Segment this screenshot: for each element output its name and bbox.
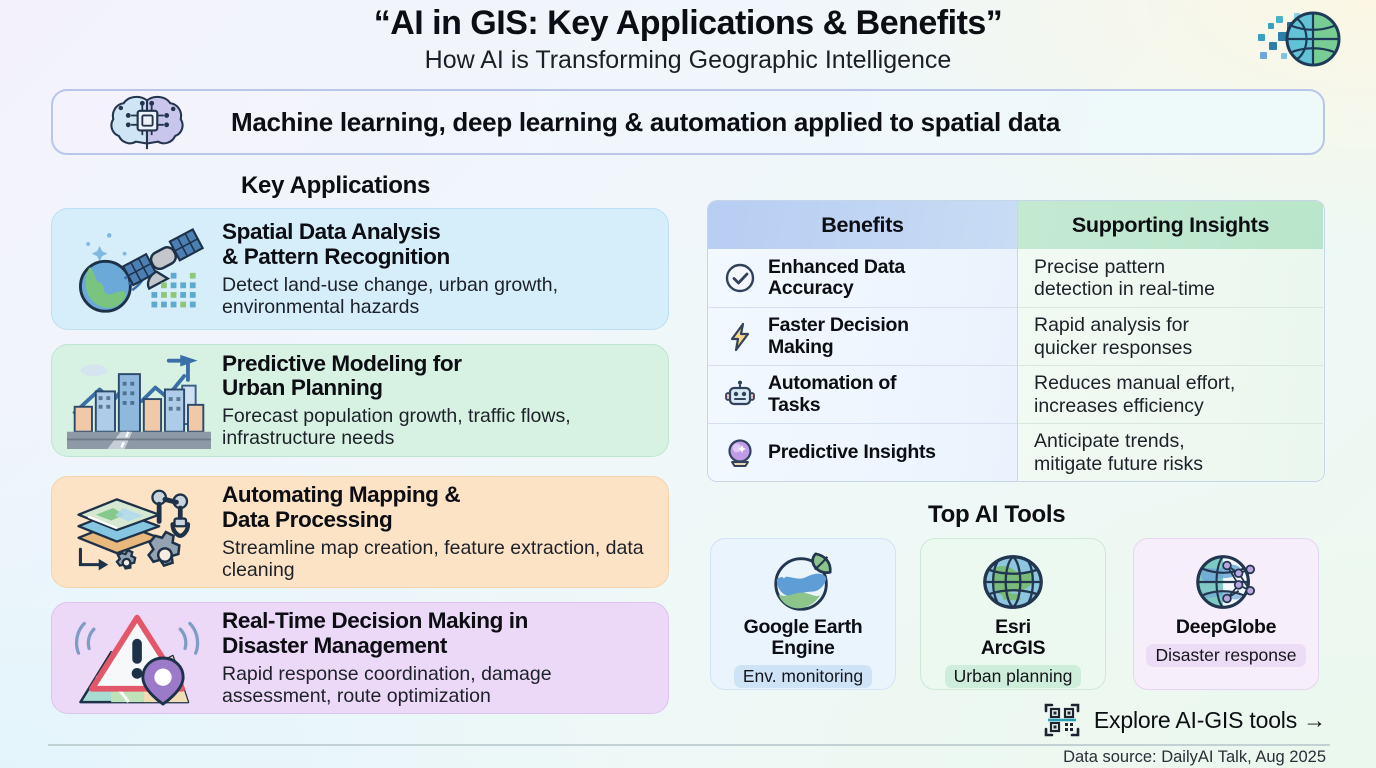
neural-globe-icon bbox=[1192, 547, 1260, 617]
tool-name-line1: DeepGlobe bbox=[1176, 616, 1276, 638]
warning-triangle-map-pin-icon bbox=[64, 608, 214, 708]
benefit-line2: Tasks bbox=[768, 394, 820, 416]
table-row[interactable]: Automation ofTasks Reduces manual effort… bbox=[708, 365, 1324, 423]
explore-cta-label: Explore AI-GIS tools → bbox=[1094, 707, 1326, 734]
card-title-line1: Predictive Modeling for bbox=[222, 351, 462, 376]
tool-card-deepglobe[interactable]: DeepGlobe Disaster response bbox=[1133, 538, 1319, 690]
benefit-line1: Enhanced Data bbox=[768, 256, 905, 278]
brain-circuit-icon bbox=[101, 93, 193, 151]
benefits-table: Benefits Supporting Insights Enhanced Da… bbox=[707, 200, 1325, 482]
application-card-spatial-data-analysis[interactable]: Spatial Data Analysis & Pattern Recognit… bbox=[51, 208, 669, 330]
card-text: Predictive Modeling for Urban Planning F… bbox=[222, 352, 654, 450]
benefit-line1: Automation of bbox=[768, 372, 896, 394]
key-concept-banner: Machine learning, deep learning & automa… bbox=[51, 89, 1325, 155]
column-header-benefits: Benefits bbox=[708, 201, 1018, 249]
insight-line2: detection in real-time bbox=[1034, 278, 1215, 300]
card-title-line1: Spatial Data Analysis bbox=[222, 219, 440, 244]
insight-line2: mitigate future risks bbox=[1034, 453, 1203, 475]
footer-divider bbox=[48, 744, 1330, 746]
card-title-line2: Urban Planning bbox=[222, 375, 383, 400]
insight-line1: Anticipate trends, bbox=[1034, 430, 1185, 452]
card-text: Spatial Data Analysis & Pattern Recognit… bbox=[222, 220, 654, 318]
tool-card-google-earth-engine[interactable]: Google EarthEngine Env. monitoring bbox=[710, 538, 896, 690]
city-growth-chart-icon bbox=[64, 351, 214, 451]
application-card-realtime-disaster[interactable]: Real-Time Decision Making in Disaster Ma… bbox=[51, 602, 669, 714]
robot-icon bbox=[722, 377, 758, 413]
insight-line2: increases efficiency bbox=[1034, 395, 1204, 417]
card-title-line2: Data Processing bbox=[222, 507, 392, 532]
card-text: Automating Mapping & Data Processing Str… bbox=[222, 483, 654, 581]
pixelated-globe-icon bbox=[1256, 8, 1344, 70]
benefit-line2: Making bbox=[768, 336, 833, 358]
card-text: Real-Time Decision Making in Disaster Ma… bbox=[222, 609, 654, 707]
tool-tag: Urban planning bbox=[945, 665, 1082, 688]
check-circle-icon bbox=[722, 260, 758, 296]
insight-line2: quicker responses bbox=[1034, 337, 1192, 359]
benefit-line1: Faster Decision bbox=[768, 314, 909, 336]
top-ai-tools-title: Top AI Tools bbox=[928, 501, 1065, 529]
card-title-line2: & Pattern Recognition bbox=[222, 244, 450, 269]
insight-line1: Rapid analysis for bbox=[1034, 314, 1189, 336]
card-desc: Forecast population growth, traffic flow… bbox=[222, 405, 654, 449]
insight-line1: Reduces manual effort, bbox=[1034, 372, 1235, 394]
tool-name-line2: ArcGIS bbox=[981, 637, 1045, 659]
card-title-line2: Disaster Management bbox=[222, 633, 447, 658]
benefit-line1: Predictive Insights bbox=[768, 441, 936, 463]
banner-text: Machine learning, deep learning & automa… bbox=[231, 107, 1060, 138]
benefit-line2: Accuracy bbox=[768, 277, 853, 299]
header: “AI in GIS: Key Applications & Benefits”… bbox=[0, 4, 1376, 75]
page-title: “AI in GIS: Key Applications & Benefits” bbox=[0, 4, 1376, 43]
tool-name-line1: Esri bbox=[995, 616, 1031, 638]
card-desc: Rapid response coordination, damage asse… bbox=[222, 663, 654, 707]
qr-code-icon bbox=[1042, 700, 1082, 740]
card-title-line1: Automating Mapping & bbox=[222, 482, 460, 507]
application-card-predictive-modeling[interactable]: Predictive Modeling for Urban Planning F… bbox=[51, 344, 669, 457]
application-card-automating-mapping[interactable]: Automating Mapping & Data Processing Str… bbox=[51, 476, 669, 588]
page-subtitle: How AI is Transforming Geographic Intell… bbox=[0, 45, 1376, 75]
earth-leaf-icon bbox=[769, 547, 837, 617]
card-desc: Streamline map creation, feature extract… bbox=[222, 537, 654, 581]
data-source-label: Data source: DailyAI Talk, Aug 2025 bbox=[1063, 748, 1326, 767]
tool-tag: Disaster response bbox=[1146, 644, 1305, 667]
lightning-bolt-icon bbox=[722, 319, 758, 355]
tool-name-line1: Google Earth bbox=[744, 616, 863, 638]
table-row[interactable]: Enhanced DataAccuracy Precise patterndet… bbox=[708, 249, 1324, 307]
map-layers-robot-gears-icon bbox=[64, 482, 214, 582]
key-applications-title: Key Applications bbox=[241, 172, 430, 200]
infographic-page: “AI in GIS: Key Applications & Benefits”… bbox=[0, 0, 1376, 768]
table-header-row: Benefits Supporting Insights bbox=[708, 201, 1324, 249]
satellite-globe-icon bbox=[64, 219, 214, 319]
column-header-insights: Supporting Insights bbox=[1018, 201, 1323, 249]
card-desc: Detect land-use change, urban growth, en… bbox=[222, 274, 654, 318]
insight-line1: Precise pattern bbox=[1034, 256, 1165, 278]
table-row[interactable]: Faster DecisionMaking Rapid analysis for… bbox=[708, 307, 1324, 365]
tool-card-esri-arcgis[interactable]: EsriArcGIS Urban planning bbox=[920, 538, 1106, 690]
table-row[interactable]: Predictive Insights Anticipate trends,mi… bbox=[708, 423, 1324, 481]
grid-globe-icon bbox=[979, 547, 1047, 617]
tool-tag: Env. monitoring bbox=[734, 665, 872, 688]
crystal-ball-icon bbox=[722, 435, 758, 471]
tool-name-line2: Engine bbox=[771, 637, 834, 659]
card-title-line1: Real-Time Decision Making in bbox=[222, 608, 528, 633]
explore-cta[interactable]: Explore AI-GIS tools → bbox=[1042, 700, 1326, 740]
